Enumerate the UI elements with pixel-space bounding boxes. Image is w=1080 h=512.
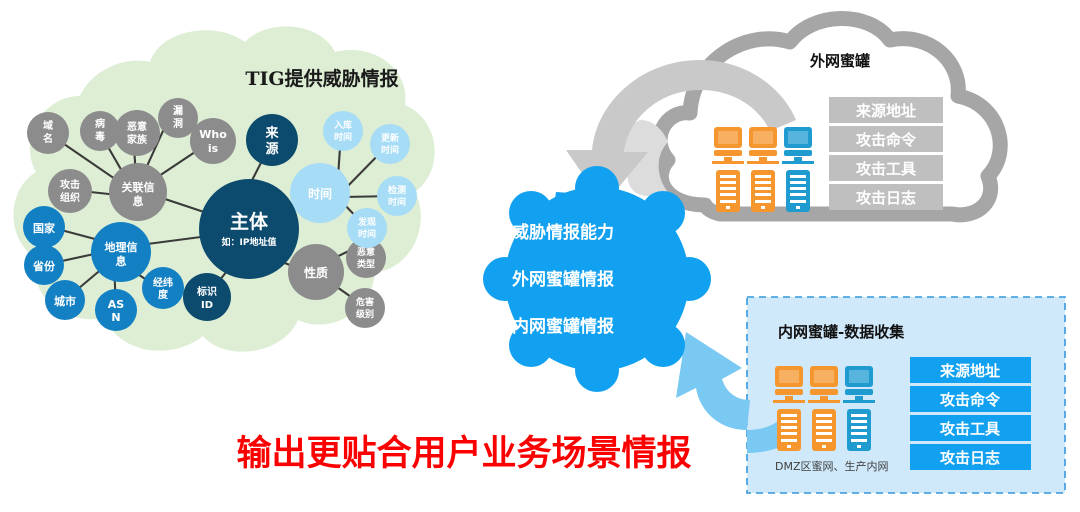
diagram-canvas: 威胁情报能力 外网蜜罐情报 内网蜜罐情报 (0, 0, 1080, 512)
footer-layer: 输出更贴合用户业务场景情报 (0, 0, 1080, 512)
footer-headline: 输出更贴合用户业务场景情报 (236, 434, 691, 474)
